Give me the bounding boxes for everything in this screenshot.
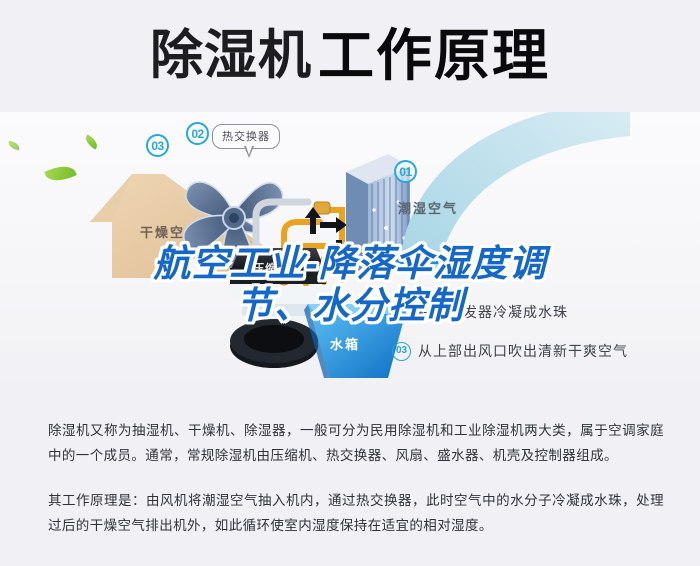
body-paragraph-1: 除湿机又称为抽湿机、干燥机、除湿器，一般可分为民用除湿机和工业除湿机两大类，属于… xyxy=(48,418,664,468)
body-text: 除湿机又称为抽湿机、干燥机、除湿器，一般可分为民用除湿机和工业除湿机两大类，属于… xyxy=(48,418,664,538)
list-item: 02 经过蒸发器冷凝成水珠 xyxy=(392,302,692,322)
water-tank-label: 水箱 xyxy=(330,334,360,353)
badge-03: 03 xyxy=(146,134,169,157)
badge-01: 01 xyxy=(394,160,417,183)
compressor-label: 压缩机 xyxy=(253,260,289,276)
page-title: 除湿机工作原理 xyxy=(0,26,700,86)
infographic-page: 除湿机工作原理 干燥空气 03 xyxy=(0,0,700,566)
legend-badge-02: 02 xyxy=(392,303,411,322)
legend-list: 02 经过蒸发器冷凝成水珠 03 从上部出风口吹出清新干爽空气 xyxy=(392,302,692,380)
illustration-stage: 干燥空气 03 xyxy=(0,112,700,387)
compressor-and-tank-icon xyxy=(212,242,422,387)
list-item: 03 从上部出风口吹出清新干爽空气 xyxy=(392,341,692,361)
page-title-light: 除湿机 xyxy=(150,26,312,85)
body-paragraph-2: 其工作原理是：由风机将潮湿空气抽入机内，通过热交换器，此时空气中的水分子冷凝成水… xyxy=(48,488,664,538)
callout-stem-icon xyxy=(244,146,254,158)
legend-badge-03: 03 xyxy=(392,342,411,361)
legend-text-03: 从上部出风口吹出清新干爽空气 xyxy=(418,341,628,361)
badge-02: 02 xyxy=(186,122,209,145)
page-title-bold: 工作原理 xyxy=(318,24,550,87)
humid-air-label: 潮湿空气 xyxy=(398,198,458,217)
legend-text-02: 经过蒸发器冷凝成水珠 xyxy=(418,302,568,322)
